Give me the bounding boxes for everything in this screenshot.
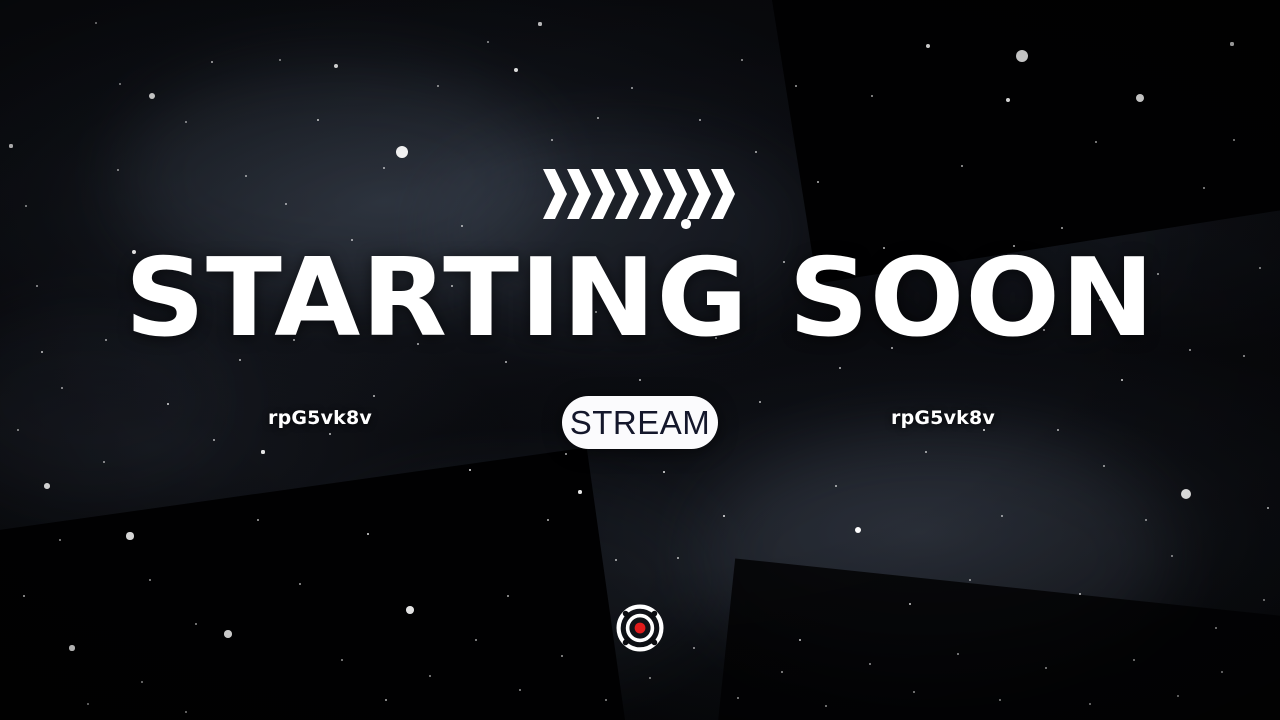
record-target-icon xyxy=(614,602,666,654)
chevron-right-icon xyxy=(638,169,664,219)
middle-row: rpG5vk8v STREAM rpG5vk8v xyxy=(0,396,1280,452)
right-stream-tag: rpG5vk8v xyxy=(891,407,995,429)
chevron-right-icon xyxy=(710,169,736,219)
chevron-right-icon xyxy=(566,169,592,219)
chevron-right-icon xyxy=(614,169,640,219)
left-stream-tag: rpG5vk8v xyxy=(268,407,372,429)
chevron-right-icon xyxy=(662,169,688,219)
page-title: STARTING SOON xyxy=(0,244,1280,354)
overlay-content: STARTING SOON rpG5vk8v STREAM rpG5vk8v xyxy=(0,0,1280,720)
stream-badge: STREAM xyxy=(562,396,718,449)
stream-overlay-screen: STARTING SOON rpG5vk8v STREAM rpG5vk8v xyxy=(0,0,1280,720)
chevron-divider xyxy=(0,168,1280,220)
chevron-right-icon xyxy=(686,169,712,219)
chevron-right-icon xyxy=(590,169,616,219)
stream-badge-label: STREAM xyxy=(570,406,711,439)
chevron-right-icon xyxy=(542,169,568,219)
